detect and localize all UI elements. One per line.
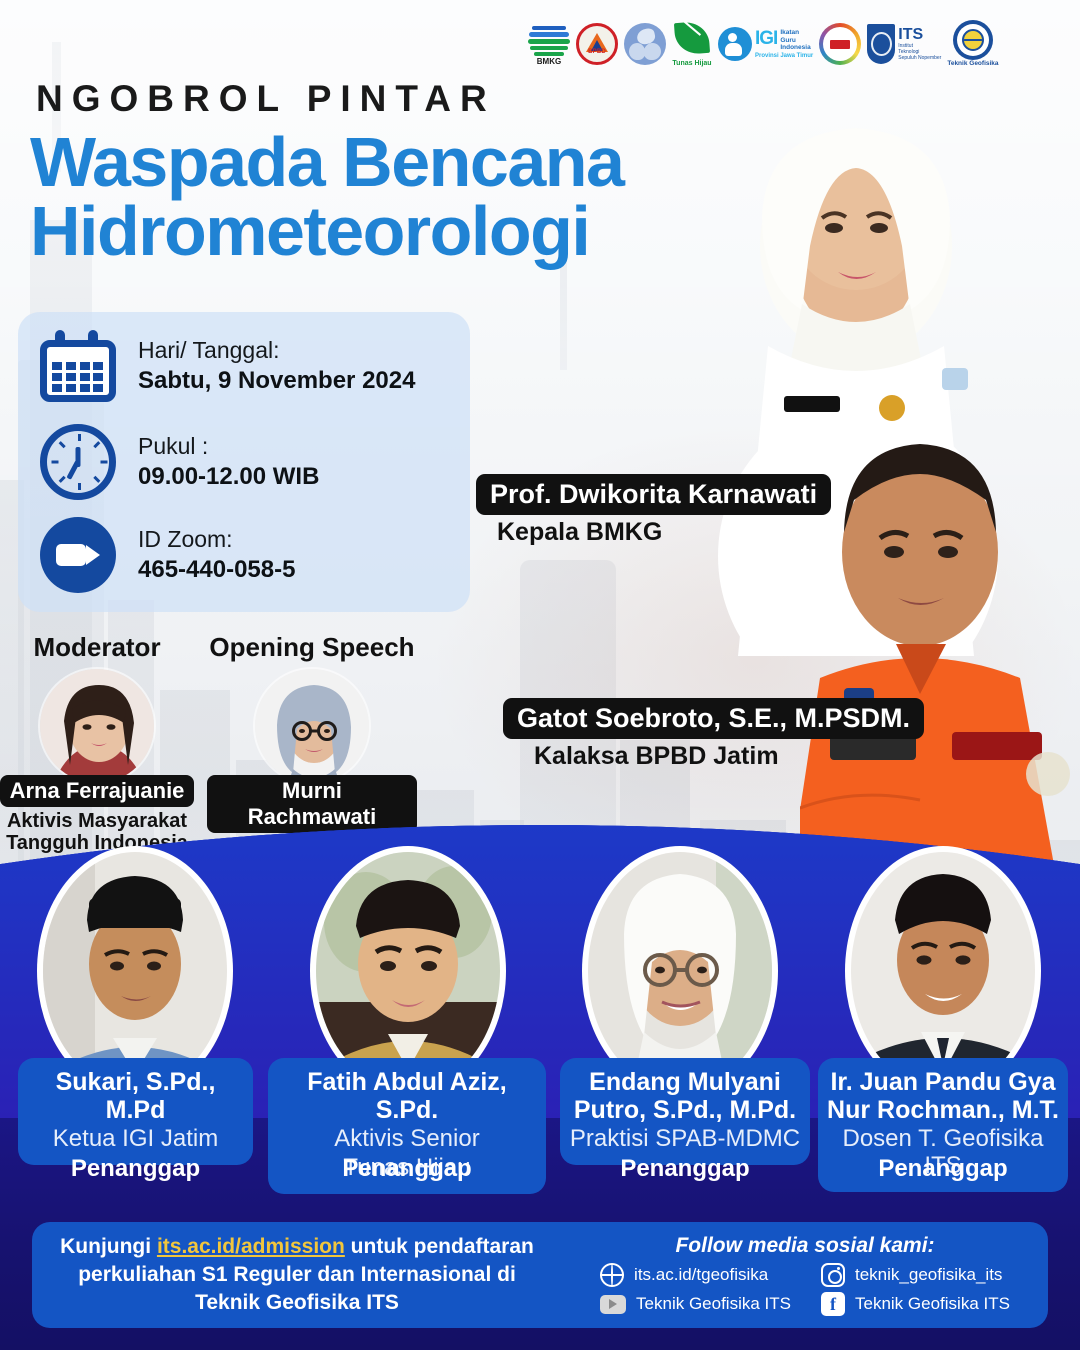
website-handle: its.ac.id/tgeofisika — [634, 1265, 768, 1285]
teknik-geofisika-logo: Teknik Geofisika — [947, 14, 998, 74]
igi-logo-word1: Ikatan — [780, 29, 810, 36]
keynote-role-dwikorita: Kepala BMKG — [497, 518, 662, 547]
panelist-name-4a: Ir. Juan Pandu Gya — [826, 1068, 1060, 1096]
moderator-role-label: Moderator — [0, 632, 202, 663]
moderator-block: Moderator Arna Ferrajuanie Aktivis Masya… — [0, 632, 202, 855]
date-value: Sabtu, 9 November 2024 — [138, 365, 415, 396]
social-youtube[interactable]: Teknik Geofisika ITS — [600, 1292, 791, 1316]
bpbd-logo-caption: BPBD — [579, 49, 615, 55]
igi-logo-province: Provinsi Jawa Timur — [755, 53, 813, 59]
detail-row-time: Pukul : 09.00-12.00 WIB — [40, 424, 319, 500]
panelist-name-3a: Endang Mulyani — [568, 1068, 802, 1096]
bpbd-logo: BPBD — [576, 14, 618, 74]
panelist-tag-4: Penanggap — [818, 1155, 1068, 1183]
event-poster: BMKG BPBD Tunas Hijau IGI Ikatan Guru — [0, 0, 1080, 1350]
instagram-icon — [821, 1263, 845, 1287]
its-logo-word3: Sepuluh Nopember — [898, 55, 941, 61]
igi-logo: IGI Ikatan Guru Indonesia Provinsi Jawa … — [718, 14, 813, 74]
detail-row-date: Hari/ Tanggal: Sabtu, 9 November 2024 — [40, 330, 415, 402]
social-block: Follow media sosial kami: its.ac.id/tgeo… — [562, 1234, 1048, 1316]
zoom-id-value: 465-440-058-5 — [138, 554, 295, 585]
moderator-name: Arna Ferrajuanie — [0, 775, 194, 807]
page-kicker: NGOBROL PINTAR — [36, 78, 496, 120]
opening-speech-block: Opening Speech Murni Rachmawati Dekan FT… — [207, 632, 417, 858]
zoom-label: ID Zoom: — [138, 525, 295, 554]
panelist-name-1: Sukari, S.Pd., M.Pd — [26, 1068, 245, 1124]
social-title: Follow media sosial kami: — [675, 1234, 934, 1258]
social-facebook[interactable]: f Teknik Geofisika ITS — [821, 1292, 1010, 1316]
panelist-role-2a: Aktivis Senior — [276, 1126, 538, 1153]
calendar-icon — [40, 330, 116, 402]
panelist-name-2: Fatih Abdul Aziz, S.Pd. — [276, 1068, 538, 1124]
igi-logo-word2: Guru — [780, 37, 810, 44]
instagram-handle: teknik_geofisika_its — [855, 1265, 1002, 1285]
admission-cta: Kunjungi its.ac.id/admission untuk penda… — [32, 1233, 562, 1316]
bmkg-logo: BMKG — [528, 14, 570, 74]
opening-speech-name: Murni Rachmawati — [207, 775, 417, 833]
cta-line3: Teknik Geofisika ITS — [44, 1289, 550, 1317]
footer-bar: Kunjungi its.ac.id/admission untuk penda… — [32, 1222, 1048, 1328]
page-title: Waspada Bencana Hidrometeorologi — [30, 128, 623, 265]
panelist-name-4b: Nur Rochman., M.T. — [826, 1096, 1060, 1124]
partner-logos: BMKG BPBD Tunas Hijau IGI Ikatan Guru — [528, 12, 1072, 76]
event-details-card: Hari/ Tanggal: Sabtu, 9 November 2024 Pu… — [18, 312, 470, 612]
tunas-hijau-caption: Tunas Hijau — [672, 60, 711, 67]
blue-circle-logo — [624, 14, 666, 74]
panelist-card-1: Sukari, S.Pd., M.Pd Ketua IGI Jatim — [18, 1058, 253, 1165]
time-value: 09.00-12.00 WIB — [138, 461, 319, 492]
page-title-line2: Hidrometeorologi — [30, 197, 623, 266]
globe-icon — [600, 1263, 624, 1287]
panelist-tag-3: Penanggap — [560, 1155, 810, 1183]
panelist-name-3b: Putro, S.Pd., M.Pd. — [568, 1096, 802, 1124]
time-label: Pukul : — [138, 432, 319, 461]
its-logo-acronym: ITS — [898, 27, 941, 43]
bmkg-logo-caption: BMKG — [537, 58, 561, 66]
cta-pre: Kunjungi — [60, 1235, 157, 1258]
social-instagram[interactable]: teknik_geofisika_its — [821, 1263, 1010, 1287]
its-logo: ITS Institut Teknologi Sepuluh Nopember — [867, 14, 941, 74]
igi-logo-word3: Indonesia — [780, 44, 810, 51]
panelist-tag-2: Penanggap — [268, 1155, 546, 1183]
moderator-desc-line1: Aktivis Masyarakat — [0, 810, 202, 832]
keynote-role-gatot: Kalaksa BPBD Jatim — [534, 742, 779, 771]
youtube-handle: Teknik Geofisika ITS — [636, 1294, 791, 1314]
facebook-icon: f — [821, 1292, 845, 1316]
tunas-hijau-logo: Tunas Hijau — [672, 14, 712, 74]
admission-link[interactable]: its.ac.id/admission — [157, 1235, 345, 1258]
panelist-tag-1: Penanggap — [18, 1155, 253, 1183]
panelist-role-3: Praktisi SPAB-MDMC — [568, 1126, 802, 1153]
date-label: Hari/ Tanggal: — [138, 336, 415, 365]
opening-speech-avatar — [253, 667, 371, 785]
panelist-card-3: Endang Mulyani Putro, S.Pd., M.Pd. Prakt… — [560, 1058, 810, 1165]
opening-speech-role-label: Opening Speech — [207, 632, 417, 663]
moderator-avatar — [38, 667, 156, 785]
keynote-name-gatot: Gatot Soebroto, S.E., M.PSDM. — [503, 698, 924, 739]
panelist-role-1: Ketua IGI Jatim — [26, 1126, 245, 1153]
cta-line2: perkuliahan S1 Reguler dan Internasional… — [44, 1261, 550, 1289]
social-website[interactable]: its.ac.id/tgeofisika — [600, 1263, 791, 1287]
video-camera-icon — [40, 517, 116, 593]
youtube-icon — [600, 1295, 626, 1314]
spab-logo — [819, 14, 861, 74]
facebook-handle: Teknik Geofisika ITS — [855, 1294, 1010, 1314]
clock-icon — [40, 424, 116, 500]
page-title-line1: Waspada Bencana — [30, 128, 623, 197]
igi-logo-acronym: IGI — [755, 29, 777, 48]
teknik-geofisika-caption: Teknik Geofisika — [947, 61, 998, 68]
keynote-name-dwikorita: Prof. Dwikorita Karnawati — [476, 474, 831, 515]
cta-post: untuk pendaftaran — [345, 1235, 534, 1258]
detail-row-zoom: ID Zoom: 465-440-058-5 — [40, 517, 295, 593]
